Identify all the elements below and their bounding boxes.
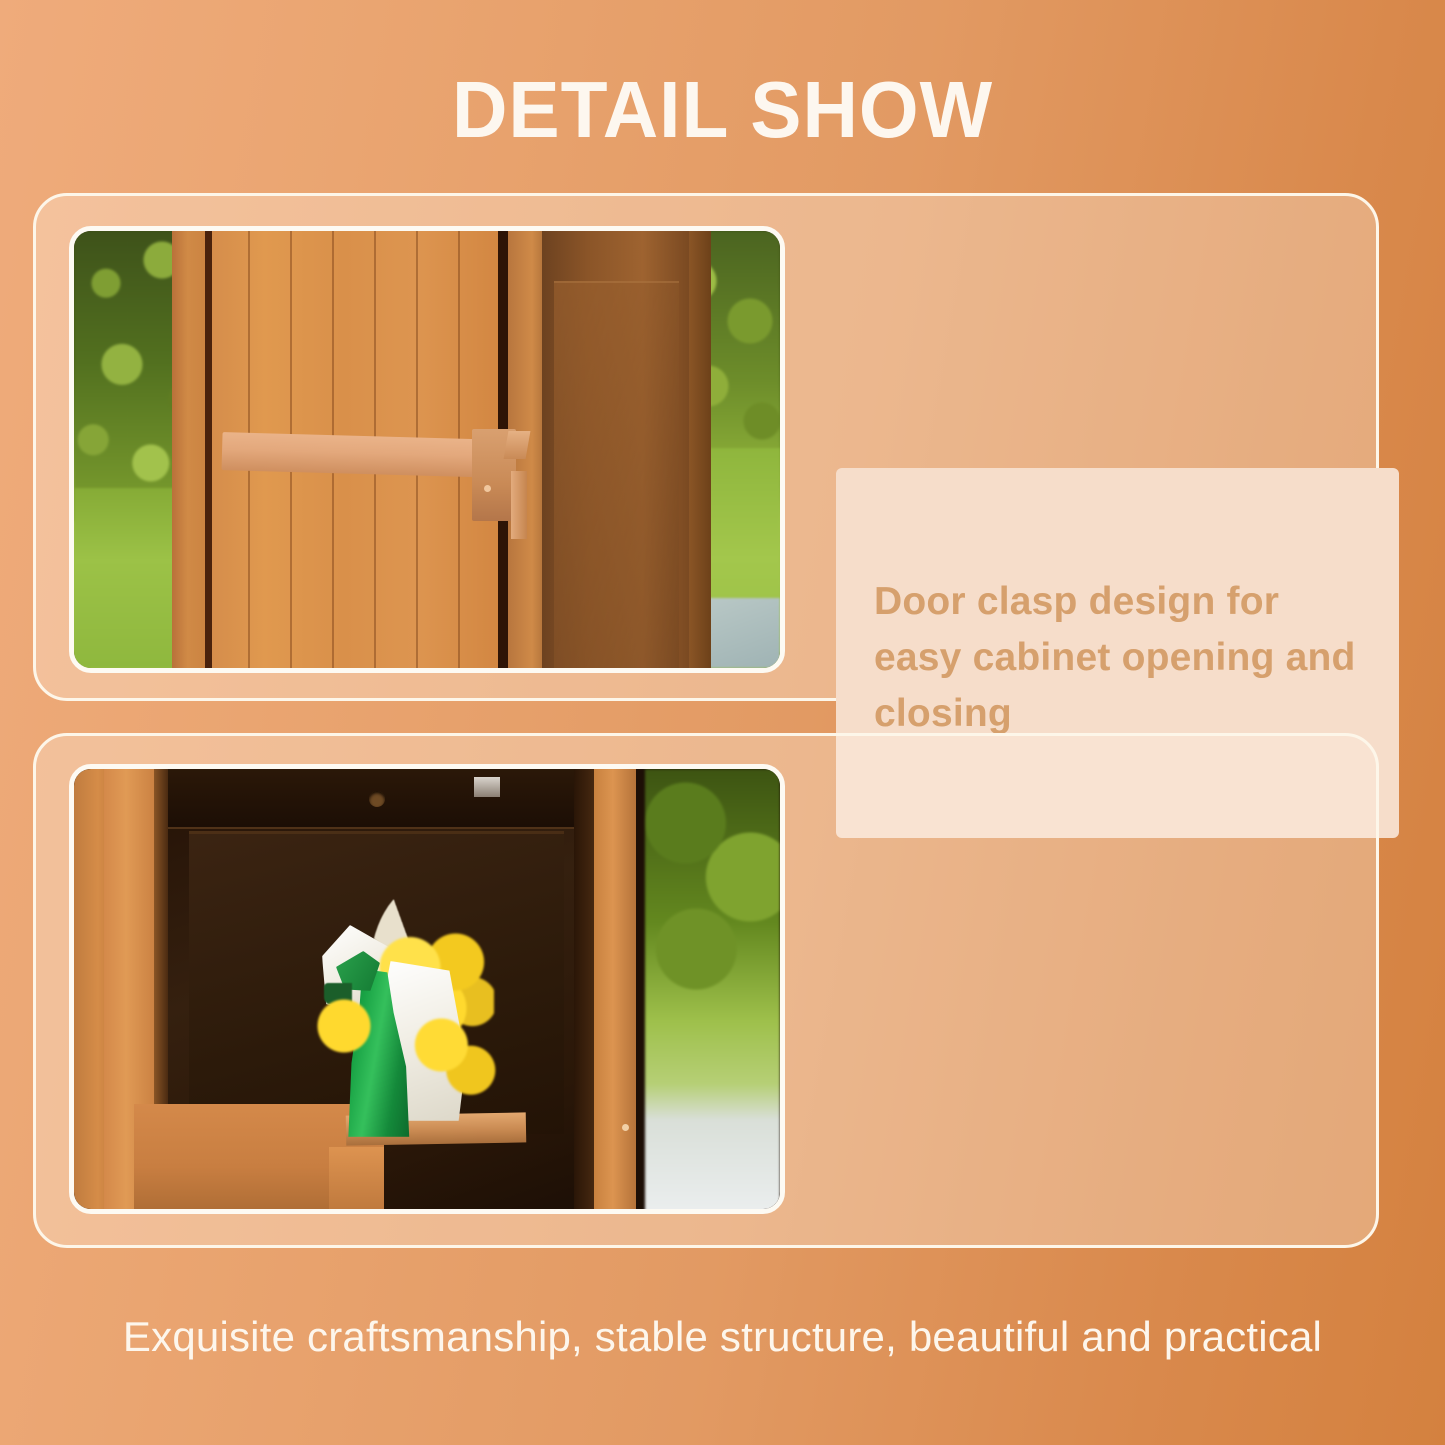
photo1-clasp-screw xyxy=(484,485,491,492)
photo-door-clasp xyxy=(74,231,780,668)
photo1-cabinet-right-post xyxy=(689,231,711,668)
page-title: DETAIL SHOW xyxy=(29,62,1416,158)
detail-card-2: Thickened plate, strong load-bearing cap… xyxy=(33,733,1379,1248)
photo2-right-screw xyxy=(622,1124,629,1131)
photo-frame-door-clasp xyxy=(69,226,785,673)
footer-caption: Exquisite craftsmanship, stable structur… xyxy=(0,1310,1445,1364)
photo2-yellow-items xyxy=(412,1009,496,1099)
photo2-top-shadow xyxy=(166,769,606,829)
photo2-bottom-notch xyxy=(329,1147,384,1209)
card-1-inner: Door clasp design for easy cabinet openi… xyxy=(36,196,1376,698)
card-2-inner: Thickened plate, strong load-bearing cap… xyxy=(36,736,1376,1245)
photo1-path xyxy=(702,598,780,668)
photo1-side-panel-detail xyxy=(554,281,679,668)
photo2-right-post xyxy=(594,769,636,1209)
detail-card-1: Door clasp design for easy cabinet openi… xyxy=(33,193,1379,701)
feature-text-door-clasp: Door clasp design for easy cabinet openi… xyxy=(874,574,1365,742)
photo2-mounting-hole xyxy=(369,791,385,807)
photo-frame-thickened-plate xyxy=(69,764,785,1214)
detail-show-page: DETAIL SHOW xyxy=(0,0,1445,1445)
photo2-yellow-items xyxy=(314,999,374,1053)
photo2-outdoor-scene xyxy=(645,769,780,1209)
photo1-clasp-catch xyxy=(511,471,527,539)
photo1-clasp-bar xyxy=(222,432,505,478)
photo-cabinet-interior xyxy=(74,769,780,1209)
photo2-hinge xyxy=(474,777,500,797)
